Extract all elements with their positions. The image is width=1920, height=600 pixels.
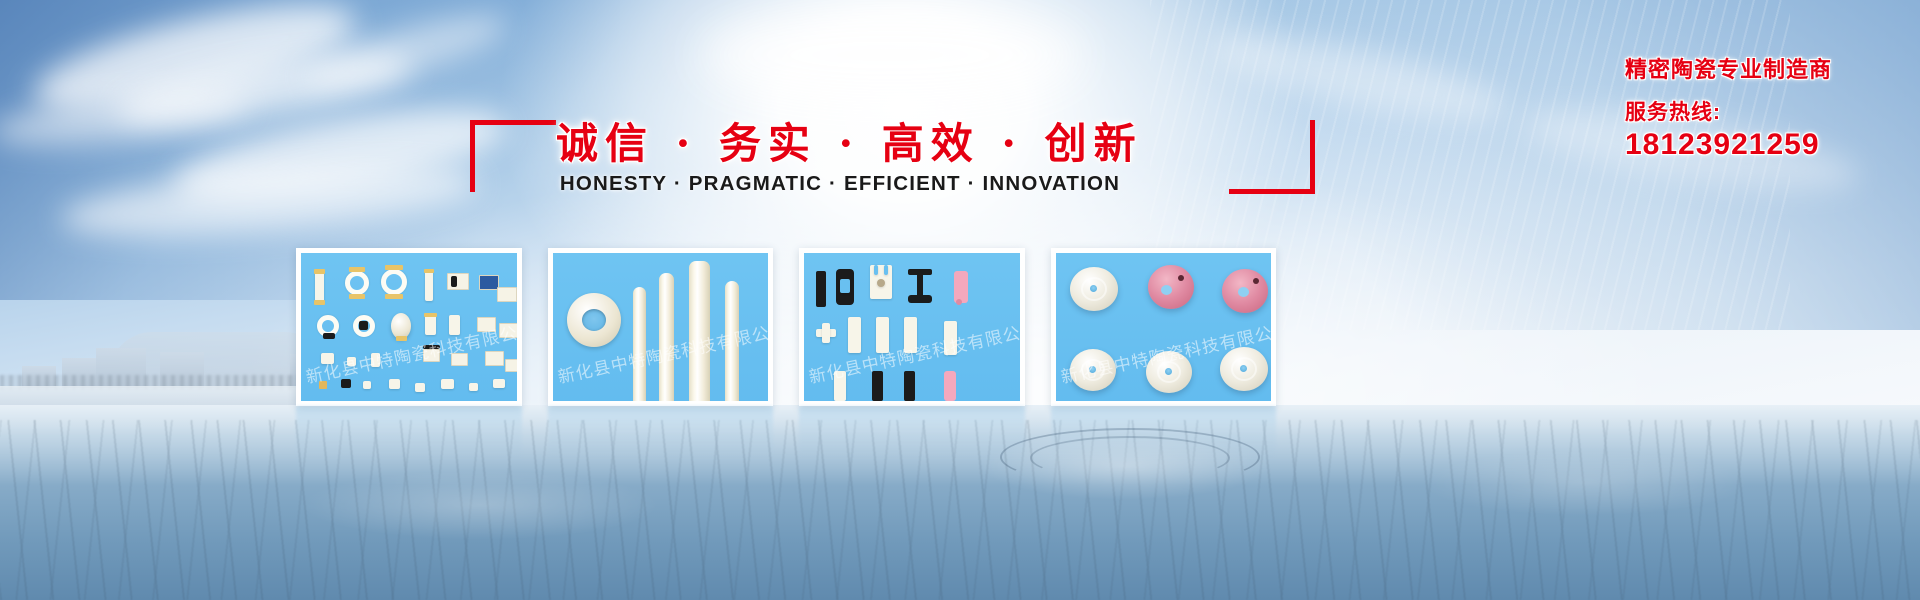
disc-white-3-hole: [1165, 368, 1172, 375]
part-dark-1: [451, 276, 457, 287]
disc-white-1-hole: [1090, 285, 1097, 292]
part-black-bar-2: [872, 371, 883, 401]
part-dumbbell-stem: [917, 273, 923, 297]
fork-slot-right: [884, 265, 888, 275]
contact-block: 精密陶瓷专业制造商 服务热线: 18123921259: [1625, 52, 1832, 162]
fork-hole: [877, 279, 885, 287]
puddle-2: [300, 470, 660, 540]
part-chip-2: [479, 275, 499, 290]
part-blk-10: [469, 383, 478, 391]
part-blk-3: [321, 353, 334, 364]
panel-2-reflection: [548, 406, 774, 462]
part-blk-6: [363, 381, 371, 389]
part-tab-2: [314, 300, 325, 305]
cloud-center: [700, 10, 1080, 100]
part-pink-block-1: [954, 271, 968, 303]
part-chip-9: [505, 359, 521, 372]
ring-bore: [582, 309, 606, 331]
hotline-label: 服务热线:: [1625, 96, 1832, 126]
part-chip-6: [423, 349, 440, 362]
part-bar-1: [315, 271, 324, 303]
part-white-bar-5: [834, 371, 846, 401]
disc-pink-1-pin: [1178, 275, 1184, 281]
part-tab-8: [396, 336, 407, 341]
product-panel-gallery: 新化县中特陶瓷科技有限公司 新化县中特陶瓷科技有限公司: [296, 248, 1276, 406]
part-cross-v: [822, 323, 830, 343]
panel-reflections: [296, 406, 1276, 462]
part-blk-5: [371, 353, 380, 367]
part-dark-5: [341, 379, 351, 388]
slogan-chinese: 诚信 · 务实 · 高效 · 创新: [556, 110, 1116, 171]
part-blk-7: [389, 379, 400, 389]
part-pink-block-2: [944, 371, 956, 401]
disc-pink-2: [1222, 269, 1268, 313]
part-ceramic-ring: [567, 293, 621, 347]
disc-white-2-hole: [1089, 366, 1096, 373]
part-blk-11: [493, 379, 505, 388]
panel-3-reflection: [799, 406, 1025, 462]
part-blk-8: [415, 383, 425, 392]
disc-white-4-hole: [1240, 365, 1247, 372]
part-bar-2: [425, 271, 433, 301]
product-panel-4[interactable]: 新化县中特陶瓷科技有限公司: [1051, 248, 1277, 406]
product-panel-2[interactable]: 新化县中特陶瓷科技有限公司: [548, 248, 774, 406]
part-white-bar-2: [876, 317, 889, 353]
puddle-3: [1420, 450, 1750, 516]
part-tab-1: [314, 269, 325, 274]
part-black-bar-1: [816, 271, 826, 307]
disc-white-3: [1146, 351, 1192, 393]
part-blk-2: [449, 315, 460, 335]
part-chip-5: [499, 323, 518, 338]
disc-white-4: [1220, 347, 1268, 391]
slogan-english: HONESTY · PRAGMATIC · EFFICIENT · INNOVA…: [530, 172, 1150, 196]
disc-pink-2-pin: [1253, 278, 1259, 284]
promo-banner: 诚信 · 务实 · 高效 · 创新 HONESTY · PRAGMATIC · …: [0, 0, 1920, 600]
part-dumbbell-foot: [908, 295, 932, 303]
part-blk-1: [425, 315, 436, 335]
part-tab-6: [385, 294, 403, 299]
product-panel-1[interactable]: 新化县中特陶瓷科技有限公司: [296, 248, 522, 406]
panel-1-reflection: [296, 406, 522, 462]
part-white-bar-3: [904, 317, 917, 353]
part-tab-7: [424, 269, 434, 273]
disc-pink-2-hole: [1238, 287, 1249, 297]
product-panel-3[interactable]: 新化县中特陶瓷科技有限公司: [799, 248, 1025, 406]
part-chip-4: [477, 317, 496, 332]
part-dark-2: [323, 333, 335, 339]
part-tab-3: [349, 267, 365, 272]
part-ring-2: [381, 269, 407, 295]
disc-white-2: [1070, 349, 1116, 391]
disc-pink-1: [1148, 265, 1194, 309]
part-blk-4: [347, 357, 356, 366]
part-chip-7: [451, 353, 468, 366]
hotline-number[interactable]: 18123921259: [1625, 128, 1832, 162]
part-chip-8: [485, 351, 504, 366]
part-gold-1: [319, 381, 327, 389]
part-black-bar-3: [904, 371, 915, 401]
disc-pink-1-hole: [1161, 285, 1172, 295]
company-tagline: 精密陶瓷专业制造商: [1625, 52, 1832, 84]
disc-white-1: [1070, 267, 1118, 311]
part-black-clip-notch: [840, 279, 850, 293]
part-tab-5: [385, 265, 403, 270]
fork-slot-left: [874, 265, 878, 275]
part-pink-nub: [956, 299, 962, 305]
part-blk-9: [441, 379, 454, 389]
part-rod-4: [725, 281, 739, 406]
part-dark-3: [359, 321, 368, 330]
slogan-block: 诚信 · 务实 · 高效 · 创新 HONESTY · PRAGMATIC · …: [470, 110, 1110, 210]
part-white-bar-1: [848, 317, 861, 353]
part-rod-3: [689, 261, 710, 406]
panel-4-reflection: [1051, 406, 1277, 462]
part-white-bar-4: [944, 321, 957, 355]
part-ring-1: [345, 271, 369, 295]
part-tab-9: [424, 313, 437, 317]
part-dark-4: [423, 345, 440, 349]
part-tab-4: [349, 294, 365, 299]
part-chip-3: [497, 287, 517, 302]
part-rod-2: [659, 273, 674, 406]
part-rod-1: [633, 287, 646, 406]
